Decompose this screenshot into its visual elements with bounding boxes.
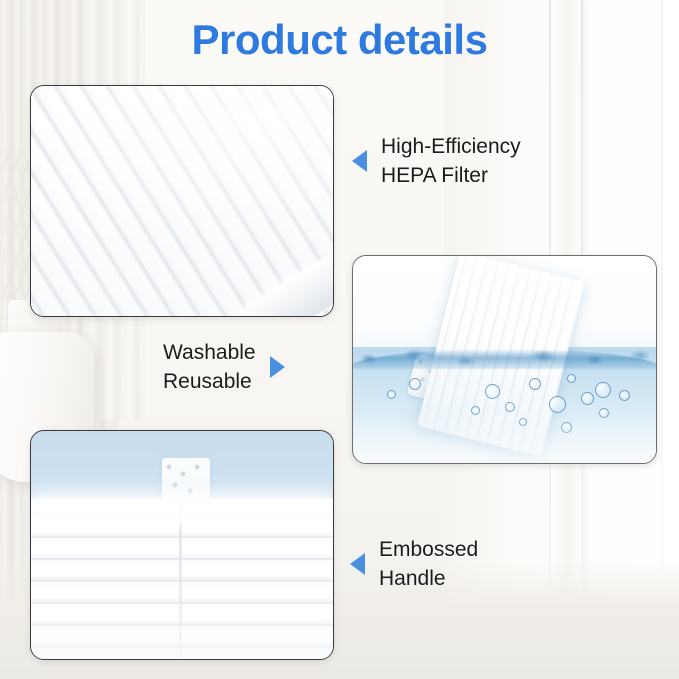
triangle-left-icon	[350, 553, 365, 575]
callout-embossed-handle: Embossed Handle	[350, 535, 478, 593]
callout-hepa-filter-label: High-Efficiency HEPA Filter	[381, 132, 521, 190]
filter-in-water-photo	[352, 255, 657, 464]
embossed-handle-photo	[30, 430, 334, 660]
hepa-filter-closeup-photo	[30, 85, 334, 317]
triangle-right-icon	[270, 356, 285, 378]
callout-washable-reusable: Washable Reusable	[163, 338, 285, 396]
bubble	[409, 378, 421, 390]
bubble	[485, 384, 500, 399]
water-splash-crest	[352, 343, 657, 369]
water-reflection	[353, 409, 656, 463]
photo-highlight	[31, 86, 333, 316]
photo-highlight	[31, 495, 333, 525]
bubble	[581, 392, 594, 405]
bubble	[567, 374, 576, 383]
triangle-left-icon	[352, 150, 367, 172]
product-details-infographic: Product details	[0, 0, 679, 679]
bubble	[387, 390, 396, 399]
callout-hepa-filter: High-Efficiency HEPA Filter	[352, 132, 521, 190]
callout-washable-reusable-label: Washable Reusable	[163, 338, 256, 396]
bubble	[595, 382, 611, 398]
bubble	[619, 390, 630, 401]
page-title: Product details	[0, 16, 679, 64]
callout-embossed-handle-label: Embossed Handle	[379, 535, 478, 593]
bubble	[529, 378, 541, 390]
